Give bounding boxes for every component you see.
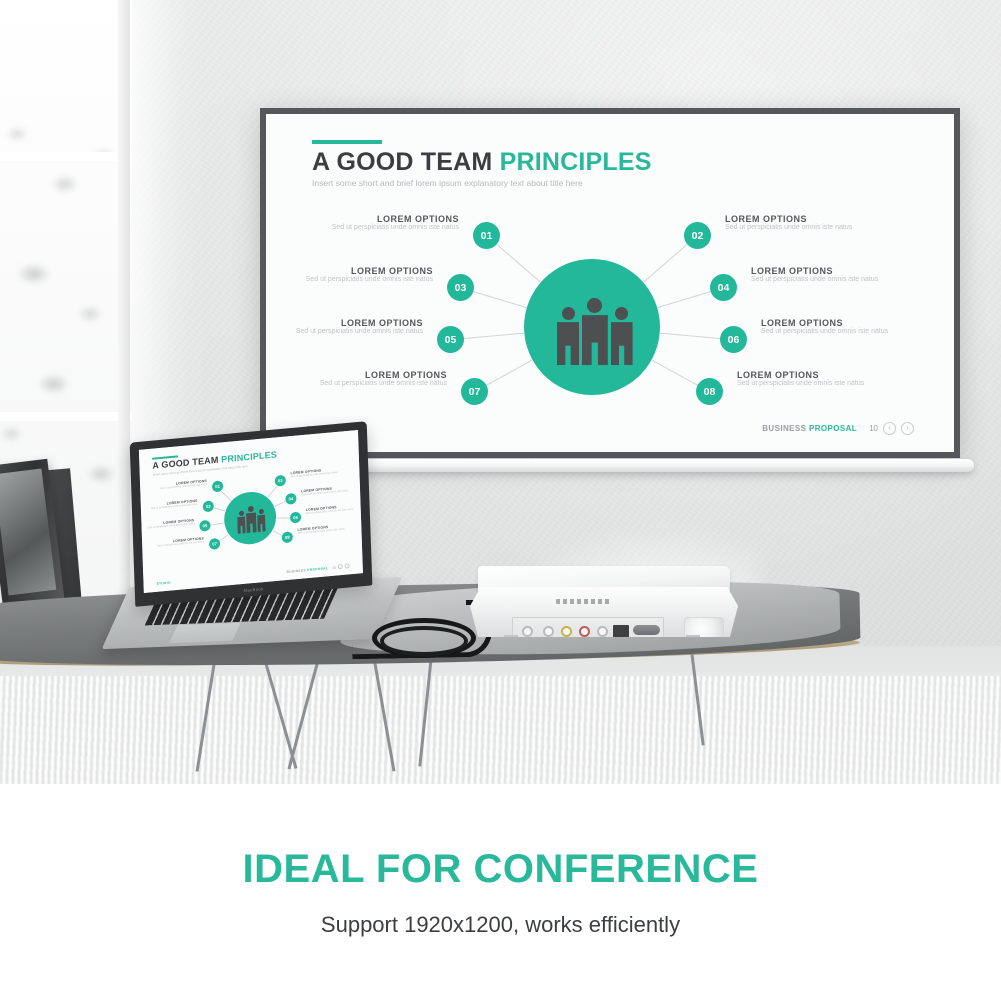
option-title: LOREM OPTIONS [761,318,888,328]
option-05: LOREM OPTIONSSed ut perspiciatis unde om… [296,318,423,335]
option-title: LOREM OPTIONS [737,370,864,380]
person-figure [237,510,246,533]
marketing-banner: IDEAL FOR CONFERENCE Support 1920x1200, … [0,784,1001,1001]
option-08: LOREM OPTIONSSed ut perspiciatis unde om… [297,524,344,535]
team-people-icon [557,298,627,395]
connector-line [657,291,711,308]
option-title: LOREM OPTIONS [296,318,423,328]
hdmi-port[interactable] [613,625,629,638]
footer-brand-accent: PROPOSAL [809,424,857,433]
option-badges: 0103050702040608 [139,430,358,450]
cable-coil-inner [380,626,468,656]
footer-studio-label: STUDIO [156,580,171,585]
option-badge-08[interactable]: 08 [696,378,723,405]
connector-line [486,360,533,386]
window-mullion [0,412,132,421]
projection-screen-surface: A GOOD TEAM PRINCIPLES Insert some short… [266,114,954,452]
next-slide-button[interactable]: › [345,563,350,568]
connector-line [643,244,688,283]
option-badge-04[interactable]: 04 [710,274,737,301]
footer-brand-accent: PROPOSAL [307,566,328,572]
option-description: Sed ut perspiciatis unde omnis iste natu… [296,328,423,335]
option-04: LOREM OPTIONSSed ut perspiciatis unde om… [751,266,878,283]
footer-right-group: BUSINESS PROPOSAL 10 ‹ › [762,422,914,435]
connector-line [660,333,720,339]
person-figure [611,307,633,365]
laptop-trackpad[interactable] [169,623,240,643]
connector-line [221,490,232,501]
footer-brand-prefix: BUSINESS [762,424,809,433]
connector-lines [139,430,358,450]
option-badge-07[interactable]: 07 [209,538,220,550]
footer-right-group: BUSINESS PROPOSAL 10 ‹ › [286,563,349,574]
team-hub-circle [223,490,277,547]
connector-line [651,360,698,386]
option-badge-04[interactable]: 04 [285,493,296,505]
person-figure [557,307,579,365]
option-title: LOREM OPTIONS [306,266,433,276]
option-06: LOREM OPTIONSSed ut perspiciatis unde om… [306,504,353,515]
option-04: LOREM OPTIONSSed ut perspiciatis unde om… [301,485,348,496]
banner-headline: IDEAL FOR CONFERENCE [243,848,759,890]
composite-video-jack[interactable] [543,626,554,637]
projector-foot [686,635,700,642]
connector-line [274,501,286,507]
yellow-rca-jack[interactable] [561,626,572,637]
person-figure [257,509,266,532]
person-figure [246,505,257,533]
option-description: Sed ut perspiciatis unde omnis iste natu… [751,276,878,283]
option-badge-02[interactable]: 02 [684,222,711,249]
option-01: LOREM OPTIONSSed ut perspiciatis unde om… [160,479,207,490]
option-list: LOREM OPTIONSSed ut perspiciatis unde om… [139,430,358,450]
option-badge-02[interactable]: 02 [275,475,286,487]
projector-body [470,587,738,637]
shag-rug [0,676,1001,784]
slide-subtitle: Insert some short and brief lorem ipsum … [312,178,583,188]
option-badge-01[interactable]: 01 [473,222,500,249]
team-hub-circle [524,259,660,395]
option-08: LOREM OPTIONSSed ut perspiciatis unde om… [737,370,864,387]
option-03: LOREM OPTIONSSed ut perspiciatis unde om… [151,499,198,510]
option-title: LOREM OPTIONS [725,214,852,224]
banner-subline: Support 1920x1200, works efficiently [321,912,680,938]
audio-jack[interactable] [522,626,533,637]
option-05: LOREM OPTIONSSed ut perspiciatis unde om… [147,518,194,529]
vga-port-top[interactable] [633,625,660,635]
projector-lens [684,617,724,647]
projector-foot [504,635,518,642]
laptop: A GOOD TEAM PRINCIPLES Insert some short… [118,432,386,647]
footer-page-number: 10 [869,424,878,433]
slide-title: A GOOD TEAM PRINCIPLES [312,148,652,177]
option-badge-06[interactable]: 06 [720,326,747,353]
option-description: Sed ut perspiciatis unde omnis iste natu… [320,380,447,387]
slide-title-accent: PRINCIPLES [500,148,652,176]
white-rca-jack[interactable] [597,626,608,637]
red-rca-jack[interactable] [579,626,590,637]
option-badge-03[interactable]: 03 [447,274,474,301]
projector-brand-mark [556,599,612,604]
laptop-slide: A GOOD TEAM PRINCIPLES Insert some short… [139,430,363,593]
slide-title-accent: PRINCIPLES [221,449,277,464]
option-02: LOREM OPTIONSSed ut perspiciatis unde om… [290,467,337,478]
connector-line [213,508,225,512]
team-people-icon [237,505,264,546]
option-07: LOREM OPTIONSSed ut perspiciatis unde om… [320,370,447,387]
slide-title-dark: A GOOD TEAM [312,148,500,176]
footer-brand-prefix: BUSINESS [286,568,307,574]
footer-brand: BUSINESS PROPOSAL [762,424,857,433]
option-badge-08[interactable]: 08 [282,531,293,543]
window-mullion [0,152,132,161]
connector-line [219,534,229,542]
option-03: LOREM OPTIONSSed ut perspiciatis unde om… [306,266,433,283]
option-description: Sed ut perspiciatis unde omnis iste natu… [737,380,864,387]
footer-brand: BUSINESS PROPOSAL [286,566,328,574]
option-badge-05[interactable]: 05 [437,326,464,353]
option-06: LOREM OPTIONSSed ut perspiciatis unde om… [761,318,888,335]
connector-line [267,485,278,498]
prev-slide-button[interactable]: ‹ [883,422,896,435]
connector-line [210,522,224,525]
footer-page-number: 10 [332,565,336,569]
laptop-lid: A GOOD TEAM PRINCIPLES Insert some short… [130,421,373,607]
person-figure [582,298,608,365]
option-badge-07[interactable]: 07 [461,378,488,405]
option-description: Sed ut perspiciatis unde omnis iste natu… [761,328,888,335]
laptop-screen: A GOOD TEAM PRINCIPLES Insert some short… [139,430,363,593]
option-title: LOREM OPTIONS [751,266,878,276]
connector-line [464,333,524,339]
projector [470,566,738,644]
option-07: LOREM OPTIONSSed ut perspiciatis unde om… [157,536,204,547]
option-title: LOREM OPTIONS [332,214,459,224]
option-title: LOREM OPTIONS [320,370,447,380]
option-badge-06[interactable]: 06 [290,511,301,523]
projected-slide: A GOOD TEAM PRINCIPLES Insert some short… [266,114,954,452]
connector-line [473,291,527,308]
option-description: Sed ut perspiciatis unde omnis iste natu… [306,276,433,283]
option-01: LOREM OPTIONSSed ut perspiciatis unde om… [332,214,459,231]
prev-slide-button[interactable]: ‹ [338,564,343,569]
connector-line [496,244,541,283]
option-badge-03[interactable]: 03 [203,500,214,512]
option-description: Sed ut perspiciatis unde omnis iste natu… [725,224,852,231]
next-slide-button[interactable]: › [901,422,914,435]
option-description: Sed ut perspiciatis unde omnis iste natu… [332,224,459,231]
connector-line [276,518,290,519]
slide-footer: STUDIO BUSINESS PROPOSAL 10 ‹ › [306,422,914,435]
option-badge-05[interactable]: 05 [199,520,210,532]
title-rule [312,140,382,144]
option-02: LOREM OPTIONSSed ut perspiciatis unde om… [725,214,852,231]
product-photo-scene: A GOOD TEAM PRINCIPLES Insert some short… [0,0,1001,784]
projection-screen: A GOOD TEAM PRINCIPLES Insert some short… [260,108,960,458]
